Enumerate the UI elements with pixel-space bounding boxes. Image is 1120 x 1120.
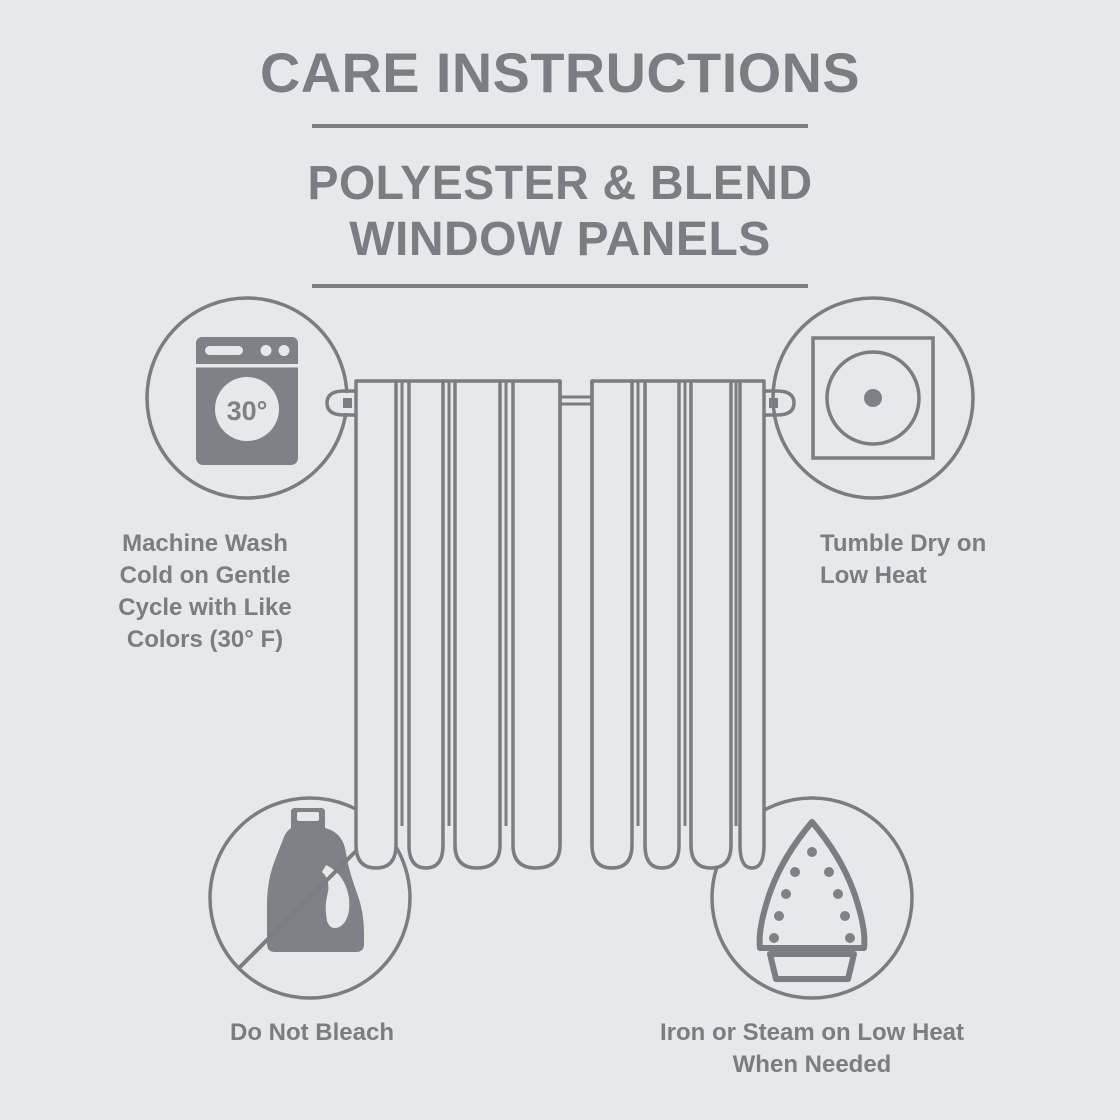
page-title: CARE INSTRUCTIONS <box>260 41 860 104</box>
washer-panel-seam <box>196 364 298 368</box>
washer-knob-1 <box>261 345 272 356</box>
bleach-bottle-cap-slot <box>297 812 319 821</box>
dry-label-line-2: Low Heat <box>820 562 927 589</box>
bleach-label-line-1: Do Not Bleach <box>230 1019 394 1046</box>
wash-label-line-1: Machine Wash <box>122 530 288 557</box>
care-instructions-card: CARE INSTRUCTIONS POLYESTER & BLEND WIND… <box>0 0 1120 1120</box>
washer-display-bar <box>205 346 243 355</box>
curtain-panel-right <box>592 381 764 868</box>
dry-label-line-1: Tumble Dry on <box>820 530 986 557</box>
wash-label-line-2: Cold on Gentle <box>120 562 291 589</box>
curtain-panel-left <box>356 381 560 868</box>
curtain-window-panels <box>327 381 794 868</box>
iron-label-line-1: Iron or Steam on Low Heat <box>660 1019 964 1046</box>
washer-knob-2 <box>279 345 290 356</box>
label-do-not-bleach: Do Not Bleach <box>230 1019 394 1046</box>
wash-label-line-3: Cycle with Like <box>118 594 291 621</box>
washer-temperature-label: 30° <box>227 396 268 426</box>
care-instructions-artwork: CARE INSTRUCTIONS POLYESTER & BLEND WIND… <box>0 0 1120 1120</box>
washing-machine-icon: 30° <box>196 337 298 465</box>
subtitle-line-2: WINDOW PANELS <box>349 213 771 266</box>
rod-finial-left <box>327 391 357 415</box>
subtitle-line-1: POLYESTER & BLEND <box>308 157 813 210</box>
iron-label-line-2: When Needed <box>733 1051 892 1078</box>
wash-label-line-4: Colors (30° F) <box>127 626 283 653</box>
dryer-low-heat-dot <box>864 389 882 407</box>
